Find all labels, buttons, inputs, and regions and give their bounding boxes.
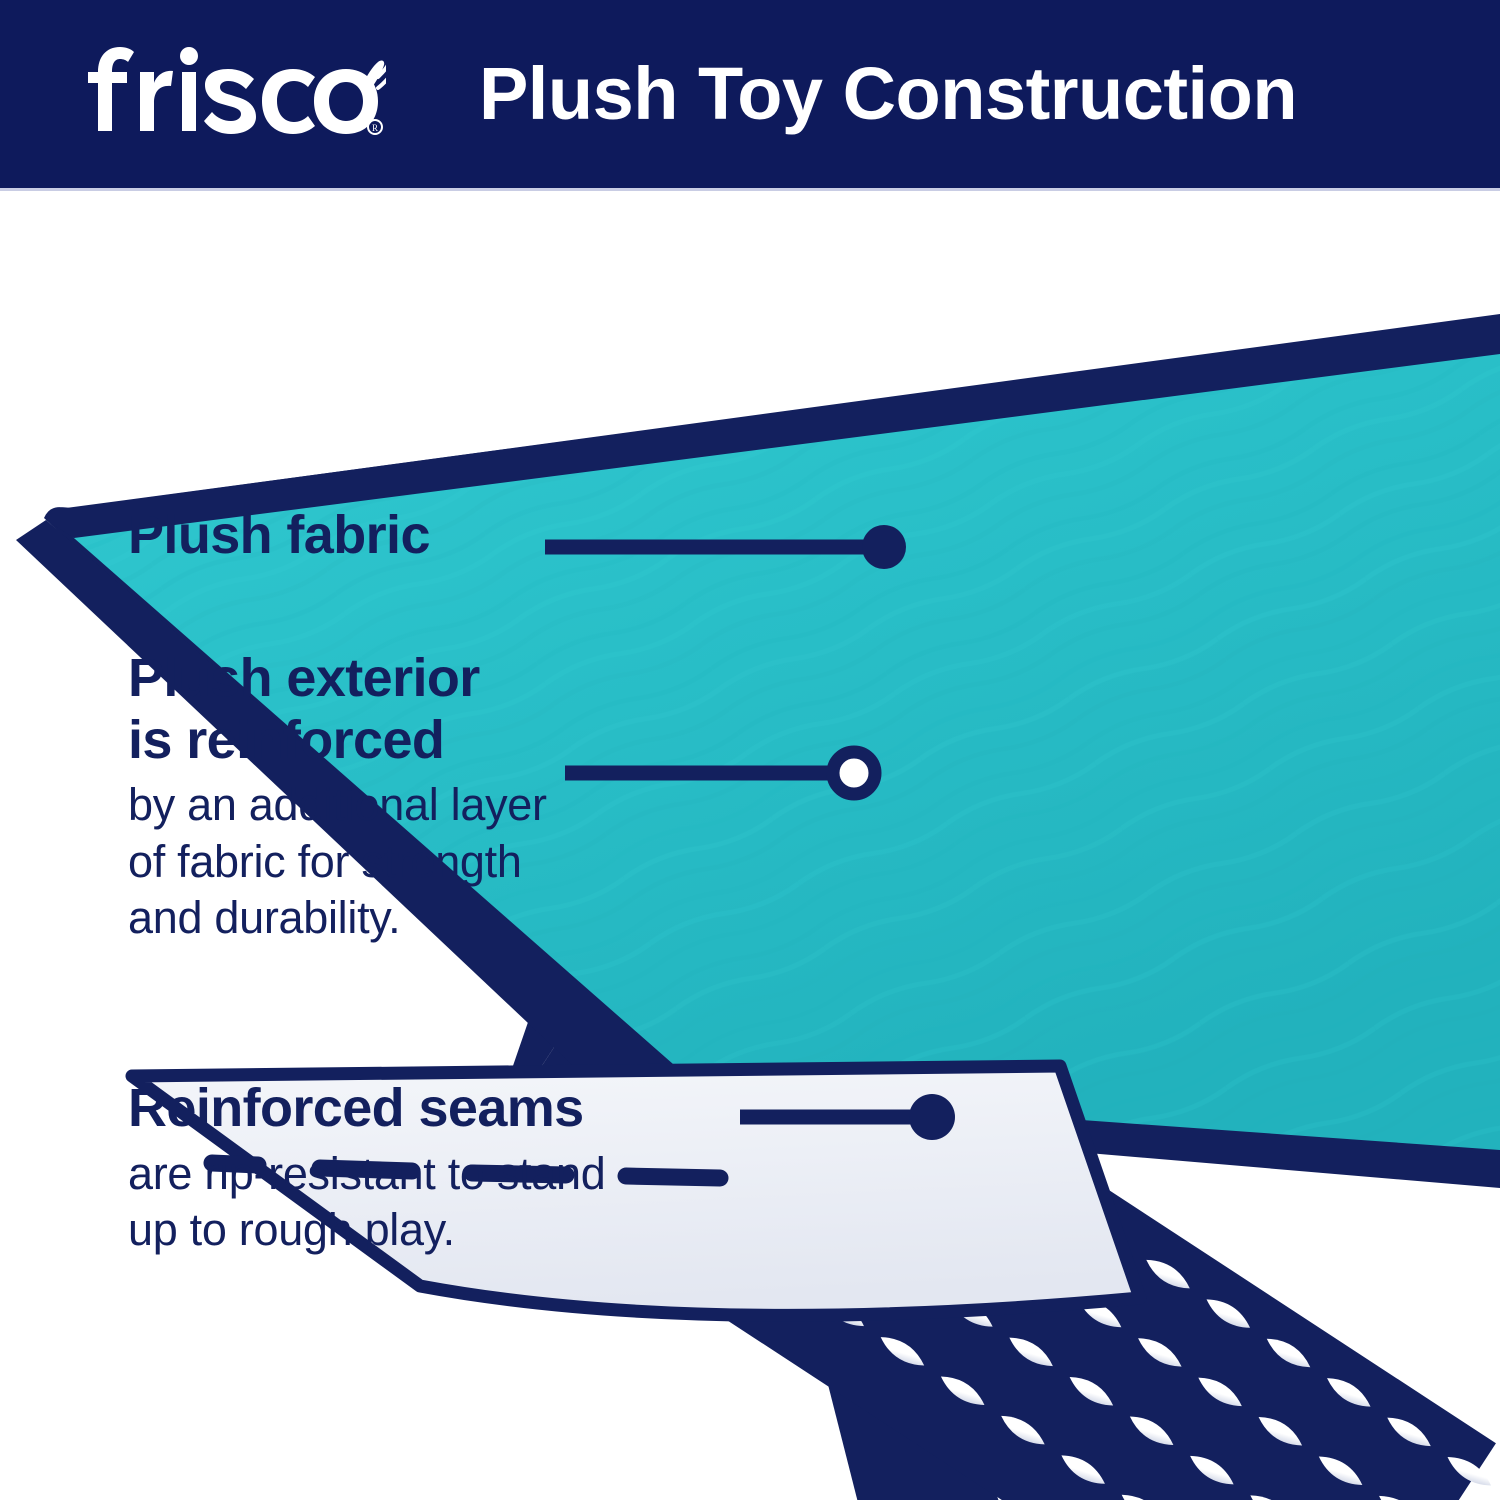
callout-title-plush-fabric: Plush fabric [128,505,430,567]
header-band: R Plush Toy Construction [0,0,1500,188]
callout-title-plush-exterior: Plush exterior is reinforced [128,648,547,771]
leader-dot-reinforced-seams [909,1094,955,1140]
callout-reinforced-seams: Reinforced seams are rip-resistant to st… [128,1078,605,1259]
frisco-logo: R [86,39,386,149]
infographic-page: R Plush Toy Construction [0,0,1500,1500]
callout-plush-exterior: Plush exterior is reinforced by an addit… [128,648,547,947]
leader-dot-plush-fabric [862,525,906,569]
callout-body-plush-exterior: by an additional layer of fabric for str… [128,777,547,947]
callout-plush-fabric: Plush fabric [128,505,430,567]
callout-title-reinforced-seams: Reinforced seams [128,1078,605,1140]
leader-dot-plush-exterior [833,752,875,794]
callout-body-reinforced-seams: are rip-resistant to stand up to rough p… [128,1146,605,1259]
page-title: Plush Toy Construction [386,57,1500,131]
frisco-wordmark-icon: R [86,39,386,149]
svg-text:R: R [372,123,378,133]
